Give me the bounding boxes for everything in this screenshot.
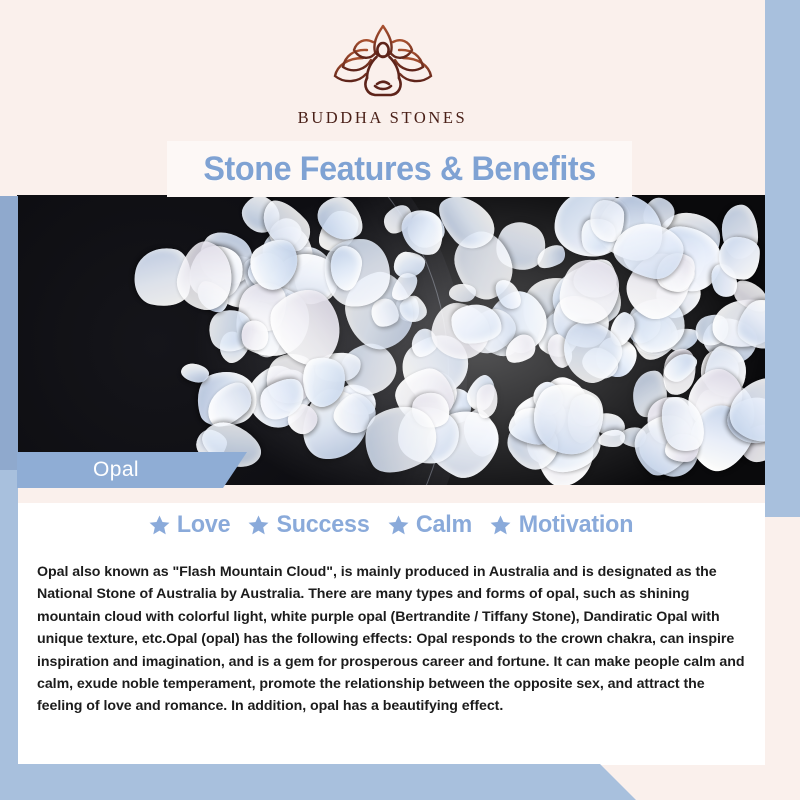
benefit-item: Motivation	[489, 511, 635, 539]
bottom-blue-band	[0, 764, 640, 800]
page-title: Stone Features & Benefits	[203, 150, 596, 189]
stone-name-label: Opal	[93, 458, 139, 482]
benefits-row: LoveSuccessCalmMotivation	[18, 511, 765, 539]
benefit-item: Calm	[387, 511, 473, 539]
benefit-item: Love	[148, 511, 231, 539]
stone	[448, 283, 476, 302]
star-icon	[148, 514, 171, 537]
description-text: Opal also known as "Flash Mountain Cloud…	[37, 561, 748, 718]
content-card: LoveSuccessCalmMotivation Opal also know…	[18, 485, 765, 765]
benefit-item: Success	[247, 511, 371, 539]
benefit-label: Calm	[416, 511, 472, 539]
benefit-label: Love	[177, 511, 231, 539]
brand-name: BUDDHA STONES	[298, 108, 468, 128]
stone	[451, 305, 501, 344]
page-title-banner: Stone Features & Benefits	[167, 141, 632, 197]
brand-logo: BUDDHA STONES	[0, 22, 765, 128]
stone	[475, 384, 498, 419]
infographic-page: BUDDHA STONES Stone Features & Benefits …	[0, 0, 800, 800]
benefit-label: Success	[277, 511, 370, 539]
left-blue-band-lower	[0, 470, 18, 800]
star-icon	[489, 514, 512, 537]
opalite-stones	[17, 195, 765, 485]
stone-name-badge: Opal	[17, 452, 247, 488]
right-blue-band	[765, 0, 800, 517]
product-photo	[17, 195, 765, 485]
star-icon	[387, 514, 410, 537]
benefit-label: Motivation	[519, 511, 633, 539]
lotus-meditation-icon	[327, 22, 439, 106]
star-icon	[247, 514, 270, 537]
left-blue-band-upper	[0, 196, 18, 484]
